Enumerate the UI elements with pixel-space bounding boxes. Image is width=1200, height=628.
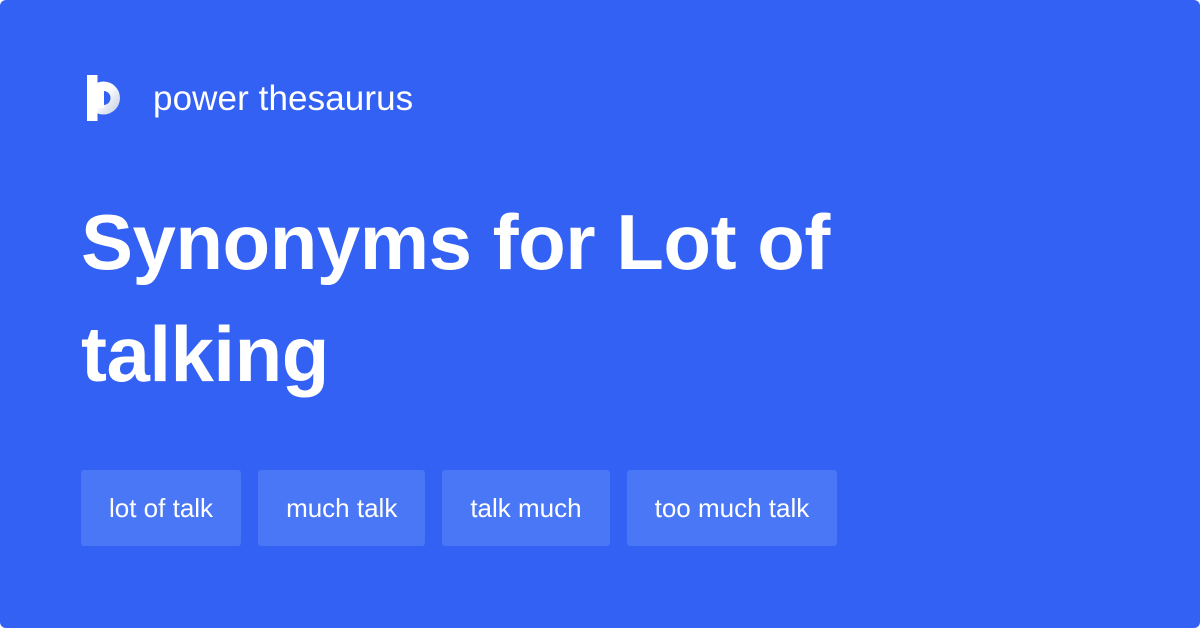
page-title: Synonyms for Lot of talking xyxy=(81,186,1081,410)
synonym-chip[interactable]: talk much xyxy=(442,470,609,546)
synonym-chip[interactable]: too much talk xyxy=(627,470,838,546)
synonym-chip[interactable]: much talk xyxy=(258,470,425,546)
brand-name: power thesaurus xyxy=(153,81,413,116)
open-graph-card: power thesaurus Synonyms for Lot of talk… xyxy=(0,0,1200,628)
synonym-chip-row: lot of talk much talk talk much too much… xyxy=(81,470,837,546)
power-thesaurus-b-logo-icon xyxy=(81,74,127,122)
synonym-chip[interactable]: lot of talk xyxy=(81,470,241,546)
brand-logo[interactable]: power thesaurus xyxy=(81,74,413,122)
